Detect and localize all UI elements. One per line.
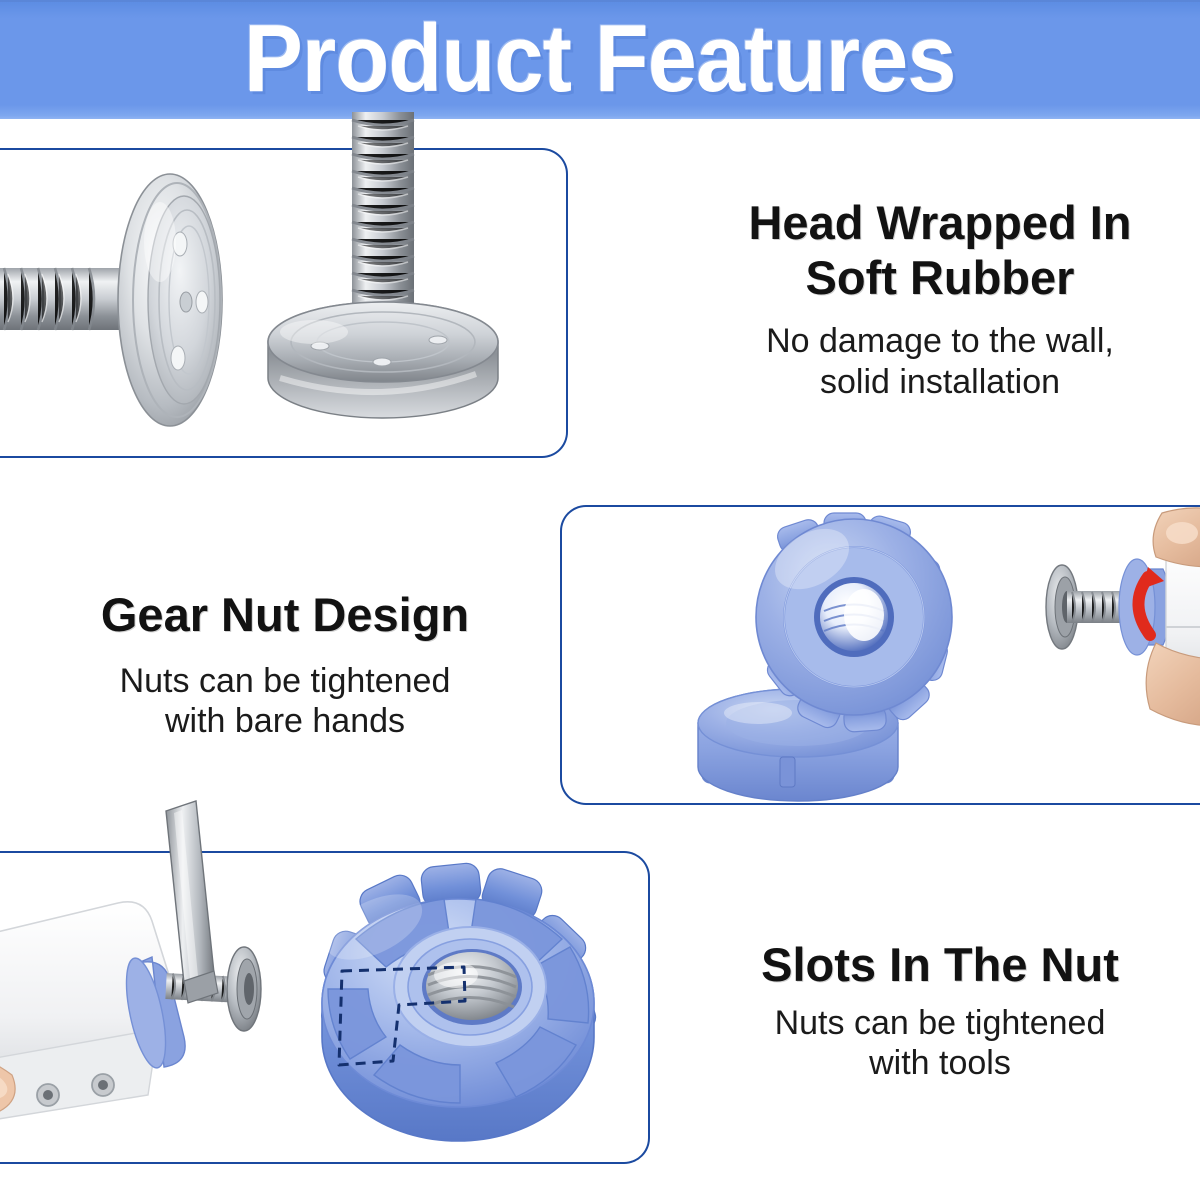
- feature-image-panel-head-wrapped: [0, 148, 568, 458]
- feature-subtitle-line2: with tools: [690, 1043, 1190, 1084]
- feature-title-gear-nut: Gear Nut Design: [35, 588, 535, 643]
- feature-title-slots: Slots In The Nut: [690, 938, 1190, 993]
- feature-title-head-wrapped: Head Wrapped In Soft Rubber: [690, 196, 1190, 305]
- feature-image-panel-slots: [0, 851, 650, 1164]
- feature-text-gear-nut: Gear Nut Design Nuts can be tightened wi…: [35, 588, 535, 742]
- feature-subtitle-line1: Nuts can be tightened: [35, 661, 535, 702]
- header-banner: Product Features: [0, 0, 1200, 119]
- feature-title-line1: Slots In The Nut: [690, 938, 1190, 993]
- feature-text-slots: Slots In The Nut Nuts can be tightened w…: [690, 938, 1190, 1084]
- feature-title-line1: Gear Nut Design: [35, 588, 535, 643]
- slots-illustration: [0, 853, 648, 1162]
- feature-subtitle-line1: Nuts can be tightened: [690, 1003, 1190, 1044]
- feature-image-panel-gear-nut: [560, 505, 1200, 805]
- feature-subtitle-slots: Nuts can be tightened with tools: [690, 1003, 1190, 1085]
- feature-subtitle-line1: No damage to the wall,: [690, 321, 1190, 362]
- gear-nut-illustration: [562, 507, 1200, 803]
- feature-subtitle-line2: with bare hands: [35, 701, 535, 742]
- feature-title-line2: Soft Rubber: [690, 251, 1190, 306]
- page-title: Product Features: [244, 11, 956, 107]
- feature-subtitle-gear-nut: Nuts can be tightened with bare hands: [35, 661, 535, 743]
- feature-subtitle-line2: solid installation: [690, 362, 1190, 403]
- feature-title-line1: Head Wrapped In: [690, 196, 1190, 251]
- screws-illustration: [0, 150, 566, 456]
- feature-subtitle-head-wrapped: No damage to the wall, solid installatio…: [690, 321, 1190, 403]
- feature-text-head-wrapped: Head Wrapped In Soft Rubber No damage to…: [690, 196, 1190, 403]
